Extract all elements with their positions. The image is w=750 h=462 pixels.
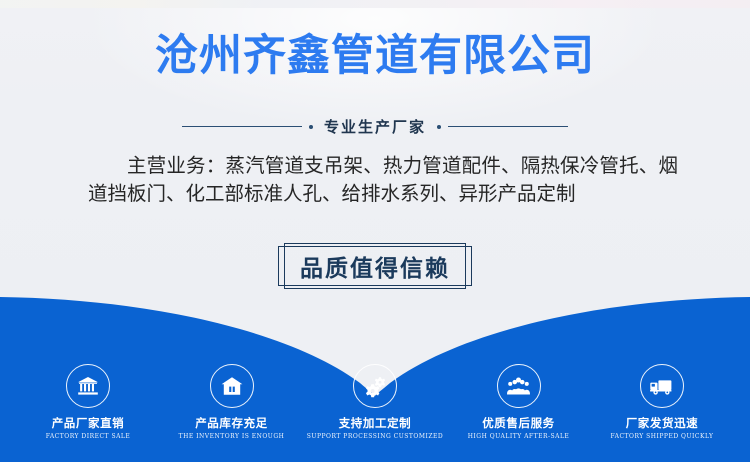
subtitle-row: 专业生产厂家 — [0, 116, 750, 137]
bank-building-icon — [66, 364, 110, 408]
page-title: 沧州齐鑫管道有限公司 — [0, 32, 750, 81]
warehouse-house-icon — [210, 364, 254, 408]
feature-label-en: THE INVENTORY IS ENOUGH — [179, 434, 285, 441]
feature-list: 产品厂家直销 FACTORY DIRECT SALE 产品库存充足 THE IN… — [0, 364, 750, 456]
feature-label-cn: 产品库存充足 — [195, 417, 268, 430]
quality-badge: 品质值得信赖 — [278, 246, 472, 286]
promo-banner: 沧州齐鑫管道有限公司 专业生产厂家 主营业务：蒸汽管道支吊架、热力管道配件、隔热… — [0, 0, 750, 462]
gears-icon — [353, 364, 397, 408]
subtitle-dot-left — [309, 125, 313, 129]
people-group-icon — [497, 364, 541, 408]
feature-item[interactable]: 产品厂家直销 FACTORY DIRECT SALE — [22, 364, 154, 440]
subtitle-dot-right — [437, 125, 441, 129]
business-scope-text: 主营业务：蒸汽管道支吊架、热力管道配件、隔热保冷管托、烟道挡板门、化工部标准人孔… — [88, 152, 678, 209]
feature-label-en: FACTORY SHIPPED QUICKLY — [610, 434, 713, 441]
delivery-truck-icon — [640, 364, 684, 408]
feature-label-en: FACTORY DIRECT SALE — [46, 434, 131, 441]
feature-label-cn: 厂家发货迅速 — [626, 417, 699, 430]
subtitle-rule-left — [182, 126, 302, 127]
subtitle-rule-right — [448, 126, 568, 127]
feature-item[interactable]: 优质售后服务 HIGH QUALITY AFTER-SALE — [453, 364, 585, 440]
subtitle-text: 专业生产厂家 — [320, 116, 430, 137]
feature-item[interactable]: 产品库存充足 THE INVENTORY IS ENOUGH — [166, 364, 298, 440]
top-tint-strip — [0, 0, 750, 8]
quality-badge-label: 品质值得信赖 — [300, 249, 450, 283]
feature-item[interactable]: 厂家发货迅速 FACTORY SHIPPED QUICKLY — [596, 364, 728, 440]
feature-label-en: SUPPORT PROCESSING CUSTOMIZED — [307, 434, 443, 441]
feature-label-cn: 产品厂家直销 — [52, 417, 125, 430]
feature-item[interactable]: 支持加工定制 SUPPORT PROCESSING CUSTOMIZED — [309, 364, 441, 440]
feature-label-cn: 优质售后服务 — [482, 417, 555, 430]
feature-label-cn: 支持加工定制 — [339, 417, 412, 430]
feature-label-en: HIGH QUALITY AFTER-SALE — [468, 434, 570, 441]
